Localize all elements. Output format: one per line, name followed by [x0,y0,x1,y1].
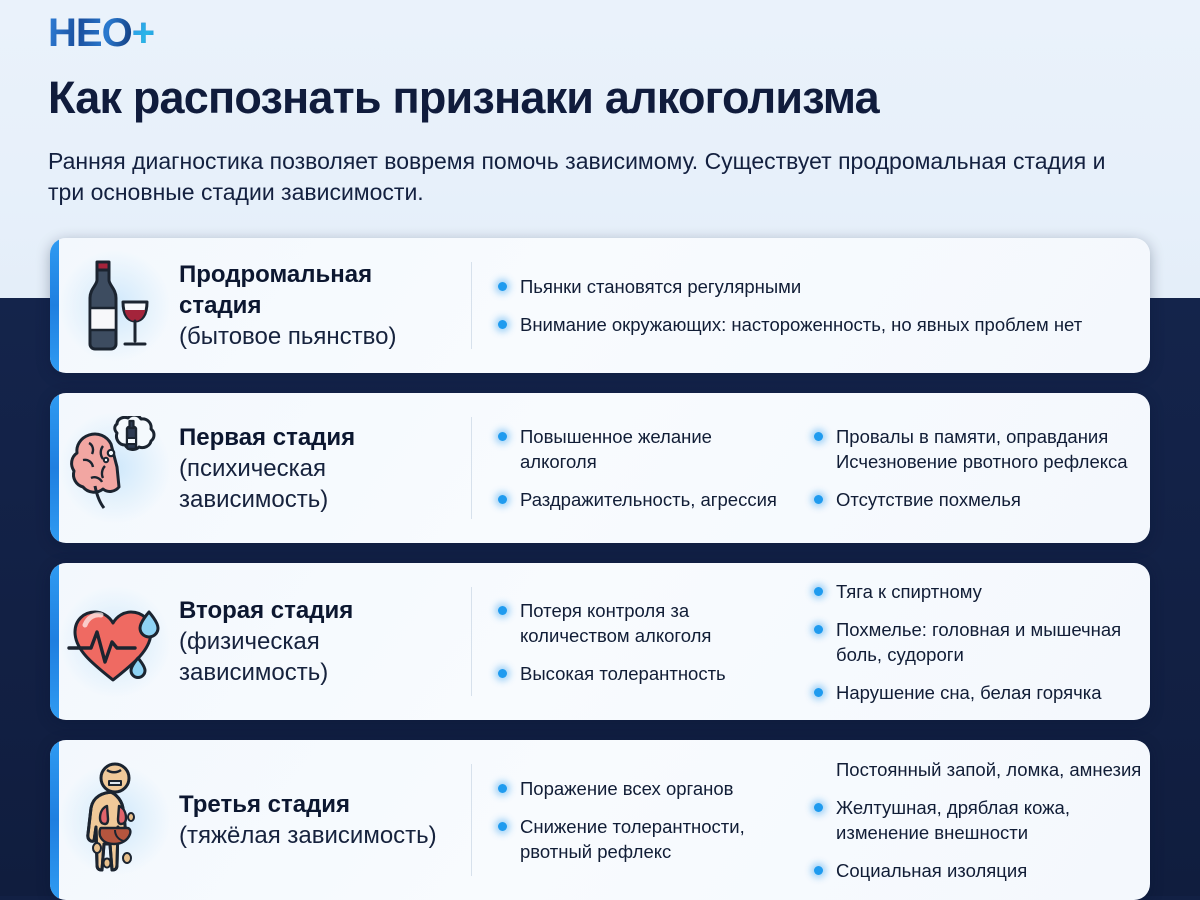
list-item: Похмелье: головная и мышечная боль, судо… [814,617,1144,667]
bullet-dot-icon [814,625,823,634]
brand-name: НЕО [48,11,132,55]
card-accent-bar [50,238,59,373]
stage-card-prodromal[interactable]: Продромальная стадия (бытовое пьянство) … [50,238,1150,373]
stage-title: Третья стадия [179,789,459,820]
bullet-list-column-1: Поражение всех органов Снижение толерант… [472,776,788,864]
bullet-text: Снижение толерантности, рвотный рефлекс [520,814,782,864]
bullet-text: Раздражительность, агрессия [520,487,782,512]
bullet-dot-icon [814,587,823,596]
bullet-text: Тяга к спиртному [836,579,1144,604]
bullet-text: Потеря контроля за количеством алкоголя [520,598,782,648]
bullet-list-column-2: Постоянный запой, ломка, амнезия Желтушн… [788,757,1150,883]
bullet-dot-icon [498,282,507,291]
bullet-dot-icon [498,320,507,329]
bullet-dot-icon [814,866,823,875]
list-item: Потеря контроля за количеством алкоголя [498,598,782,648]
stage-title: Вторая стадия [179,595,459,626]
card-title-block: Продромальная стадия (бытовое пьянство) [171,259,471,352]
bullet-list-column-1: Повышенное желание алкоголя Раздражитель… [472,424,788,512]
brand-logo: НЕО+ [48,13,154,53]
bullet-text: Поражение всех органов [520,776,782,801]
bullet-text: Постоянный запой, ломка, амнезия [836,757,1144,782]
stage-card-second[interactable]: Вторая стадия (физическая зависимость) П… [50,563,1150,720]
bullet-dot-icon [498,784,507,793]
list-item: Внимание окружающих: настороженность, но… [498,312,1144,337]
stage-subtitle: (психическая зависимость) [179,453,459,515]
bullet-dot-icon [498,495,507,504]
card-accent-bar [50,740,59,900]
bullet-list-column-1: Пьянки становятся регулярными Внимание о… [472,274,1150,337]
list-item: Отсутствие похмелья [814,487,1144,512]
card-title-block: Третья стадия (тяжёлая зависимость) [171,789,471,851]
header: НЕО+ Как распознать признаки алкоголизма… [0,0,1200,240]
brand-plus-icon: + [132,11,154,55]
bullet-dot-icon [498,432,507,441]
stage-card-third[interactable]: Третья стадия (тяжёлая зависимость) Пора… [50,740,1150,900]
list-item: Желтушная, дряблая кожа, изменение внешн… [814,795,1144,845]
page-subtitle: Ранняя диагностика позволяет вовремя пом… [48,146,1108,208]
list-item: Провалы в памяти, оправдания Исчезновени… [814,424,1144,474]
list-item: Высокая толерантность [498,661,782,686]
list-item: Постоянный запой, ломка, амнезия [814,757,1144,782]
list-item: Социальная изоляция [814,858,1144,883]
bullet-text: Провалы в памяти, оправдания Исчезновени… [836,424,1144,474]
bullet-dot-icon [498,669,507,678]
bullet-text: Пьянки становятся регулярными [520,274,1144,299]
stage-subtitle: (бытовое пьянство) [179,321,459,352]
bullet-dot-icon [814,432,823,441]
bullet-list-column-2: Провалы в памяти, оправдания Исчезновени… [788,424,1150,512]
card-accent-bar [50,563,59,720]
card-accent-bar [50,393,59,543]
list-item: Снижение толерантности, рвотный рефлекс [498,814,782,864]
bullet-text: Социальная изоляция [836,858,1144,883]
bullet-list-column-1: Потеря контроля за количеством алкоголя … [472,598,788,686]
bullet-text: Высокая толерантность [520,661,782,686]
list-item: Пьянки становятся регулярными [498,274,1144,299]
bullet-dot-icon [814,495,823,504]
bullet-dot-icon [814,803,823,812]
stage-title: Первая стадия [179,422,459,453]
list-item: Повышенное желание алкоголя [498,424,782,474]
stage-subtitle: (физическая зависимость) [179,626,459,688]
bullet-text: Повышенное желание алкоголя [520,424,782,474]
human-body-organs-icon [59,762,171,878]
bullet-dot-icon [498,606,507,615]
list-item: Поражение всех органов [498,776,782,801]
list-item: Нарушение сна, белая горячка [814,680,1144,705]
bullet-text: Нарушение сна, белая горячка [836,680,1144,705]
list-item: Раздражительность, агрессия [498,487,782,512]
stage-card-first[interactable]: Первая стадия (психическая зависимость) … [50,393,1150,543]
stage-title: Продромальная стадия [179,259,459,321]
page-title: Как распознать признаки алкоголизма [48,72,1178,124]
card-title-block: Первая стадия (психическая зависимость) [171,422,471,515]
list-item: Тяга к спиртному [814,579,1144,604]
card-title-block: Вторая стадия (физическая зависимость) [171,595,471,688]
bullet-list-column-2: Тяга к спиртному Похмелье: головная и мы… [788,579,1150,705]
stage-subtitle: (тяжёлая зависимость) [179,820,459,851]
wine-bottle-and-glass-icon [59,256,171,356]
brain-with-thought-bubble-icon [59,416,171,521]
bullet-text: Похмелье: головная и мышечная боль, судо… [836,617,1144,667]
bullet-text: Желтушная, дряблая кожа, изменение внешн… [836,795,1144,845]
bullet-dot-icon [498,822,507,831]
bullet-dot-icon [814,688,823,697]
bullet-text: Внимание окружающих: настороженность, но… [520,312,1144,337]
bullet-text: Отсутствие похмелья [836,487,1144,512]
heart-with-pulse-icon [59,592,171,692]
